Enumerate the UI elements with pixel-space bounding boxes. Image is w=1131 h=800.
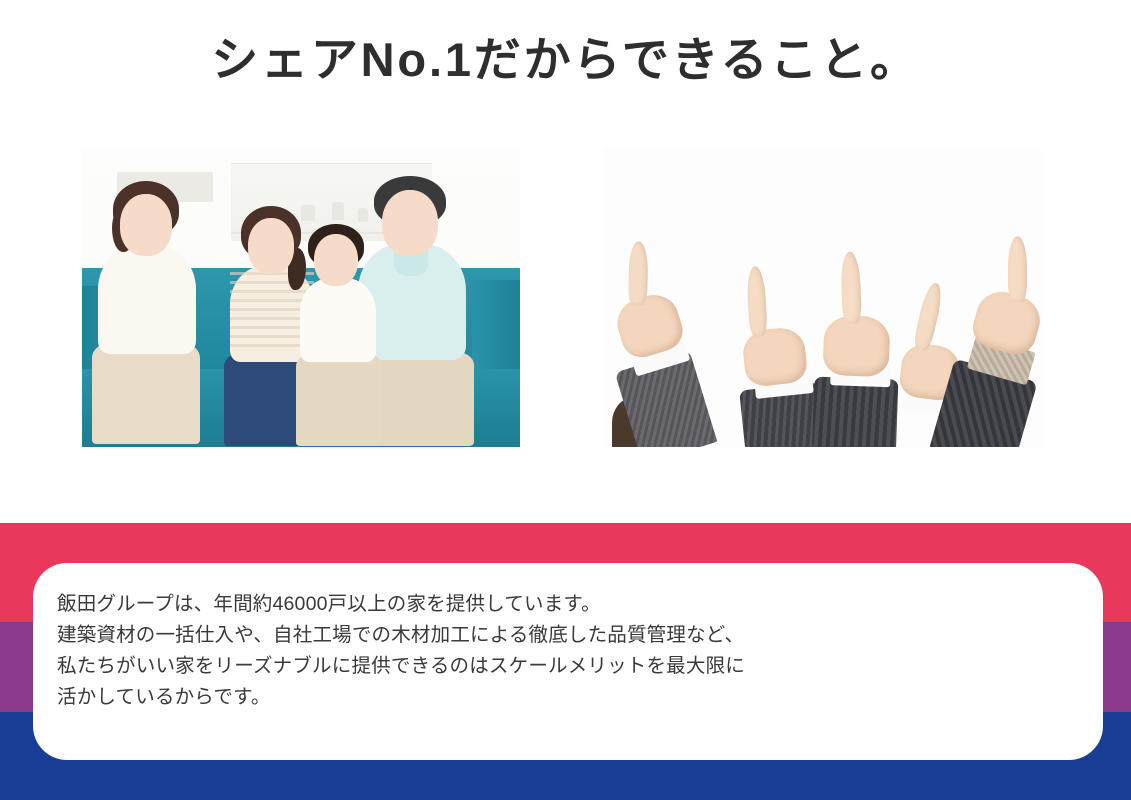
room-jar-3 — [358, 208, 368, 222]
message-text: 飯田グループは、年間約46000戸以上の家を提供しています。 建築資材の一括仕入… — [57, 589, 1069, 713]
son-shirt — [300, 278, 376, 362]
photo-hands-pointing-number-one — [604, 148, 1042, 447]
mother-top — [98, 246, 196, 354]
hand-2-index-finger — [746, 266, 768, 337]
hand-4-index-finger — [912, 281, 945, 351]
son-pants — [296, 354, 382, 446]
hand-1-index-finger — [628, 241, 648, 305]
photo-family-on-sofa — [82, 148, 520, 447]
room-jar-2 — [332, 202, 344, 220]
mother-legs — [92, 344, 200, 444]
page-title: シェアNo.1だからできること。 — [0, 33, 1131, 87]
mother-head — [120, 194, 172, 256]
hand-2-fist — [741, 326, 809, 388]
daughter-head — [248, 218, 294, 274]
hand-3-index-finger — [840, 251, 862, 324]
son-head — [314, 234, 358, 286]
father-head — [382, 190, 438, 256]
message-card: 飯田グループは、年間約46000戸以上の家を提供しています。 建築資材の一括仕入… — [33, 563, 1103, 760]
photo-row — [0, 148, 1131, 448]
hand-5-index-finger — [1008, 236, 1027, 302]
room-jar-1 — [301, 205, 315, 221]
